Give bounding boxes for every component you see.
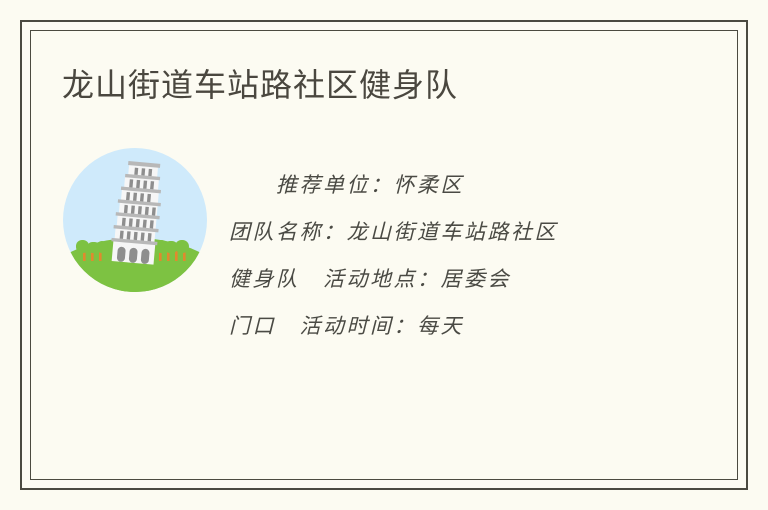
info-line-recommending-unit: 推荐单位：怀柔区 <box>229 162 649 209</box>
team-info-block: 推荐单位：怀柔区 团队名称：龙山街道车站路社区 健身队 活动地点：居委会 门口 … <box>229 162 649 350</box>
info-line-activity-time: 门口 活动时间：每天 <box>229 303 649 350</box>
page-title: 龙山街道车站路社区健身队 <box>62 63 458 107</box>
document-card: 龙山街道车站路社区健身队 <box>0 0 768 510</box>
info-line-activity-place: 健身队 活动地点：居委会 <box>229 256 649 303</box>
leaning-tower-of-pisa-icon <box>63 148 207 292</box>
info-line-team-name: 团队名称：龙山街道车站路社区 <box>229 209 649 256</box>
